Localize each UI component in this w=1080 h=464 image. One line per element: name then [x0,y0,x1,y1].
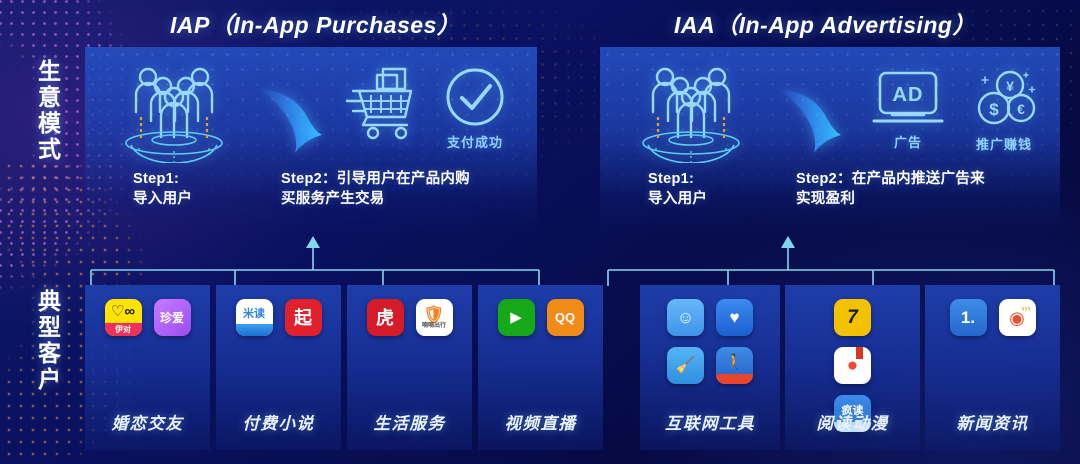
app-icon-cleaner[interactable]: 🧹 [667,347,704,384]
step2-text-iaa: Step2：在产品内推送广告来 实现盈利 [796,169,985,209]
svg-text:AD: AD [893,84,924,106]
app-icon-weibo[interactable]: ◉ ››› [999,299,1036,336]
svg-text:$: $ [989,100,999,119]
rail-char-1: 生 [28,58,72,84]
rail-char-1: 典 [28,288,72,314]
client-card-news[interactable]: 1. ◉ ››› 新闻资讯 [925,285,1060,450]
app-icon-cleaner-label: 🧹 [676,358,696,374]
app-icon-touchpal-label: ☺ [677,309,694,326]
client-card-internet-tools[interactable]: ☺ ♥ 🧹 🚶 互联网工具 [640,285,780,450]
icon-caption-promote-earn: 推广赚钱 [968,134,1040,153]
app-icon-yidian[interactable]: 1. [950,299,987,336]
section-title-iap: IAP（In-App Purchases） [170,6,460,40]
app-icon-list: 1. ◉ ››› [925,299,1060,336]
app-icon-qqlive[interactable]: QQ [547,299,584,336]
step1-text-iap: Step1: 导入用户 [133,169,192,209]
section-title-iaa: IAA（In-App Advertising） [674,6,976,40]
app-icon-list: 虎 🛡 嘀嘀出行 [347,299,472,336]
rail-char-4: 户 [28,366,72,392]
app-icon-tomato[interactable]: ● [834,347,871,384]
users-group-icon [115,55,233,163]
rail-char-3: 模 [28,110,72,136]
app-icon-huya-label: 虎 [376,309,394,327]
tomato-bookmark-icon [856,347,863,359]
slide-canvas: 生 意 模 式 典 型 客 户 IAP（In-App Purchases） IA… [0,0,1080,464]
app-icon-walking-badge [716,374,753,384]
rail-label-typical-clients: 典 型 客 户 [28,288,72,392]
app-icon-qidian-label: 起 [294,309,312,327]
rail-label-business-model: 生 意 模 式 [28,58,72,162]
app-icon-qimao-label: 7 [847,308,858,327]
didi-shield-icon: 🛡 [423,307,445,323]
app-icon-list: ☺ ♥ 🧹 🚶 [654,299,766,384]
app-icon-qqlive-label: QQ [555,311,575,324]
rail-char-4: 式 [28,136,72,162]
client-card-video-live[interactable]: ▶ QQ 视频直播 [478,285,603,450]
app-icon-list: ▶ QQ [478,299,603,336]
app-icon-tencent-guard[interactable]: ♥ [716,299,753,336]
app-icon-yidian-label: 1. [961,309,975,326]
card-label-paid-novels: 付费小说 [216,410,341,434]
app-icon-kuaibo-label: ▶ [510,310,522,325]
app-icon-midu-wave [236,324,273,336]
rail-char-2: 型 [28,314,72,340]
app-icon-qimao[interactable]: 7 [834,299,871,336]
app-icon-walking-label: 🚶 [725,355,744,370]
app-icon-zhenai[interactable]: 珍爱 [154,299,191,336]
check-circle-icon: 支付成功 [443,65,507,129]
app-icon-midu[interactable]: 米读 [236,299,273,336]
panel-iaa-business-model: AD 广告 ¥ € $ 推广赚钱 [600,47,1060,233]
arrow-right-icon [257,75,343,153]
app-icon-midu-label: 米读 [243,309,265,320]
app-icon-kuaibo[interactable]: ▶ [498,299,535,336]
client-card-paid-novels[interactable]: 米读 起 付费小说 [216,285,341,450]
app-icon-zhenai-label: 珍爱 [160,312,184,324]
card-label-reading-comics: 阅读动漫 [785,410,920,434]
step2-text-iap: Step2：引导用户在产品内购 买服务产生交易 [281,169,470,209]
app-icon-list: 米读 起 [216,299,341,336]
rail-char-3: 客 [28,340,72,366]
app-icon-tencent-guard-label: ♥ [729,309,739,326]
weibo-signal-icon: ››› [1022,304,1031,313]
client-card-dating[interactable]: ♡∞ 伊对 珍爱 婚恋交友 [85,285,210,450]
card-label-dating: 婚恋交友 [85,410,210,434]
client-card-life-services[interactable]: 虎 🛡 嘀嘀出行 生活服务 [347,285,472,450]
app-icon-yidui[interactable]: ♡∞ 伊对 [105,299,142,336]
card-label-internet-tools: 互联网工具 [640,410,780,434]
coins-money-icon: ¥ € $ 推广赚钱 [968,65,1040,131]
app-icon-list: ♡∞ 伊对 珍爱 [85,299,210,336]
app-icon-touchpal[interactable]: ☺ [667,299,704,336]
app-icon-huya[interactable]: 虎 [367,299,404,336]
step1-text-iaa: Step1: 导入用户 [648,169,707,209]
users-group-icon [632,55,750,163]
card-label-life-services: 生活服务 [347,410,472,434]
shopping-cart-icon [343,63,423,141]
svg-text:¥: ¥ [1006,78,1014,94]
svg-text:€: € [1017,101,1025,117]
icon-caption-payment-success: 支付成功 [443,132,507,151]
app-icon-didi[interactable]: 🛡 嘀嘀出行 [416,299,453,336]
app-icon-walking[interactable]: 🚶 [716,347,753,384]
arrow-right-icon [776,75,862,153]
client-card-reading-comics[interactable]: 7 ● 疯读 阅读动漫 [785,285,920,450]
card-label-news: 新闻资讯 [925,410,1060,434]
ad-screen-icon: AD 广告 [872,71,944,129]
app-icon-yidui-label: 伊对 [105,323,142,336]
icon-caption-advertising: 广告 [872,132,944,151]
app-icon-didi-label: 嘀嘀出行 [422,323,446,329]
rail-char-2: 意 [28,84,72,110]
panel-iap-business-model: 支付成功 Step1: 导入用户 Step2：引导用户在产品内购 买服务产生交易 [85,47,537,233]
card-label-video-live: 视频直播 [478,410,603,434]
app-icon-qidian[interactable]: 起 [285,299,322,336]
